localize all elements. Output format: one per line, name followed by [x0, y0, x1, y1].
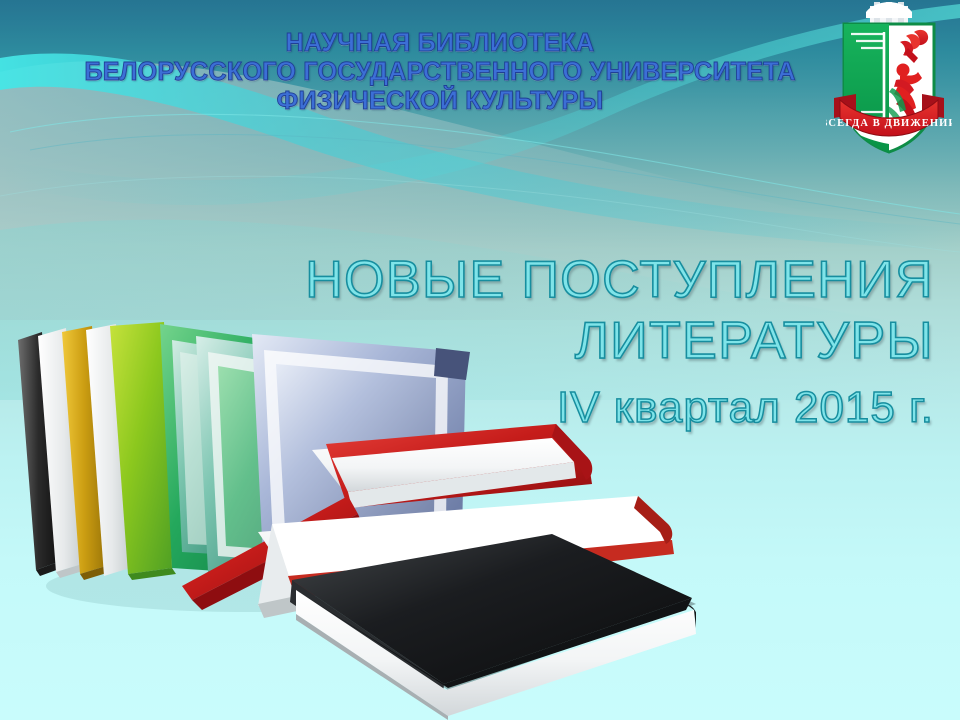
title-slide: НАУЧНАЯ БИБЛИОТЕКА БЕЛОРУССКОГО ГОСУДАРС…	[0, 0, 960, 720]
emblem-motto-text: ВСЕГДА В ДВИЖЕНИИ	[826, 118, 952, 129]
title-line-1: НОВЫЕ ПОСТУПЛЕНИЯ	[294, 250, 934, 311]
stack-of-books-illustration	[0, 318, 696, 720]
emblem-crown-icon	[866, 2, 912, 26]
university-emblem-icon: ВСЕГДА В ДВИЖЕНИИ	[826, 2, 952, 162]
